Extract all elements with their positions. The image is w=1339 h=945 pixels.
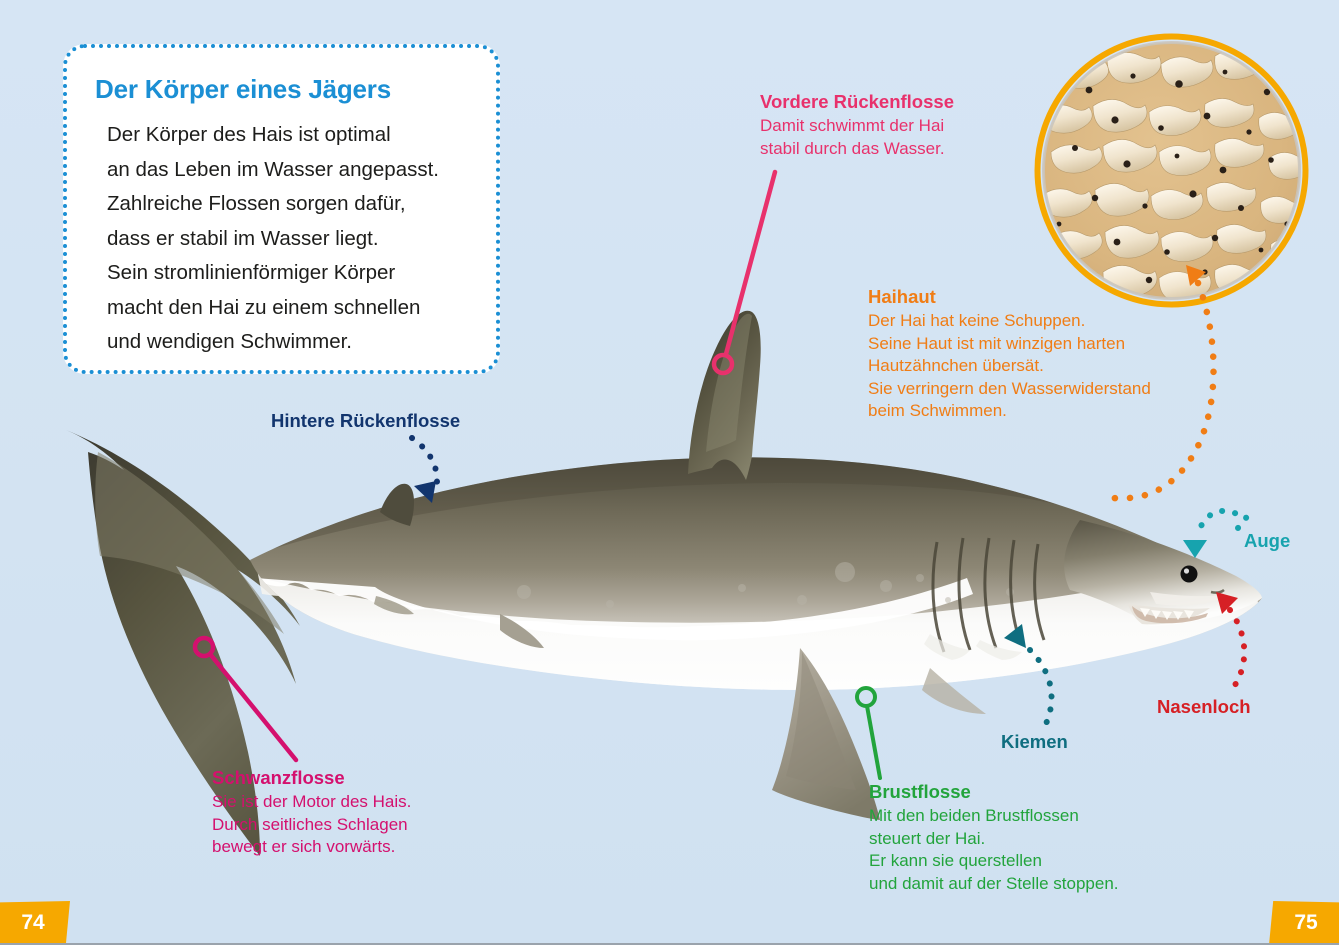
callout-line: Sie ist der Motor des Hais. xyxy=(212,791,411,814)
callout-shark-skin: Haihaut Der Hai hat keine Schuppen. Sein… xyxy=(868,285,1151,423)
callout-body: Mit den beiden Brustflossen steuert der … xyxy=(869,805,1119,895)
intro-line: Der Körper des Hais ist optimal xyxy=(107,118,497,153)
intro-line: macht den Hai zu einem schnellen xyxy=(107,291,497,326)
callout-body: Sie ist der Motor des Hais. Durch seitli… xyxy=(212,791,411,859)
shark-skin-inset xyxy=(1029,28,1314,313)
book-spread-page: Der Körper eines Jägers Der Körper des H… xyxy=(0,0,1339,945)
callout-title: Schwanzflosse xyxy=(212,766,411,789)
intro-line: Zahlreiche Flossen sorgen dafür, xyxy=(107,187,497,222)
intro-body: Der Körper des Hais ist optimal an das L… xyxy=(107,118,497,360)
callout-front-dorsal-fin: Vordere Rückenflosse Damit schwimmt der … xyxy=(760,90,954,160)
intro-line: dass er stabil im Wasser liegt. xyxy=(107,222,497,257)
callout-title: Brustflosse xyxy=(869,780,1119,803)
callout-line: Seine Haut ist mit winzigen harten xyxy=(868,333,1151,356)
intro-line: Sein stromlinienförmiger Körper xyxy=(107,256,497,291)
label-nostril: Nasenloch xyxy=(1157,696,1251,718)
page-number-right: 75 xyxy=(1269,901,1339,945)
page-number-left: 74 xyxy=(0,901,70,945)
callout-line: Der Hai hat keine Schuppen. xyxy=(868,310,1151,333)
callout-line: Mit den beiden Brustflossen xyxy=(869,805,1119,828)
callout-line: stabil durch das Wasser. xyxy=(760,138,954,161)
intro-line: und wendigen Schwimmer. xyxy=(107,325,497,360)
callout-line: beim Schwimmen. xyxy=(868,400,1151,423)
callout-line: Damit schwimmt der Hai xyxy=(760,115,954,138)
callout-line: Durch seitliches Schlagen xyxy=(212,814,411,837)
callout-caudal-fin: Schwanzflosse Sie ist der Motor des Hais… xyxy=(212,766,411,859)
callout-title: Vordere Rückenflosse xyxy=(760,90,954,113)
intro-box: Der Körper eines Jägers Der Körper des H… xyxy=(63,44,500,374)
callout-line: Sie verringern den Wasserwiderstand xyxy=(868,378,1151,401)
callout-title: Haihaut xyxy=(868,285,1151,308)
intro-title: Der Körper eines Jägers xyxy=(95,74,391,105)
intro-line: an das Leben im Wasser angepasst. xyxy=(107,153,497,188)
label-eye: Auge xyxy=(1244,530,1290,552)
callout-pectoral-fin: Brustflosse Mit den beiden Brustflossen … xyxy=(869,780,1119,895)
label-rear-dorsal-fin: Hintere Rückenflosse xyxy=(271,410,460,432)
label-gills: Kiemen xyxy=(1001,731,1068,753)
callout-body: Der Hai hat keine Schuppen. Seine Haut i… xyxy=(868,310,1151,423)
callout-line: Er kann sie querstellen xyxy=(869,850,1119,873)
callout-line: steuert der Hai. xyxy=(869,828,1119,851)
callout-body: Damit schwimmt der Hai stabil durch das … xyxy=(760,115,954,160)
callout-line: Hautzähnchen übersät. xyxy=(868,355,1151,378)
callout-line: bewegt er sich vorwärts. xyxy=(212,836,411,859)
callout-line: und damit auf der Stelle stoppen. xyxy=(869,873,1119,896)
